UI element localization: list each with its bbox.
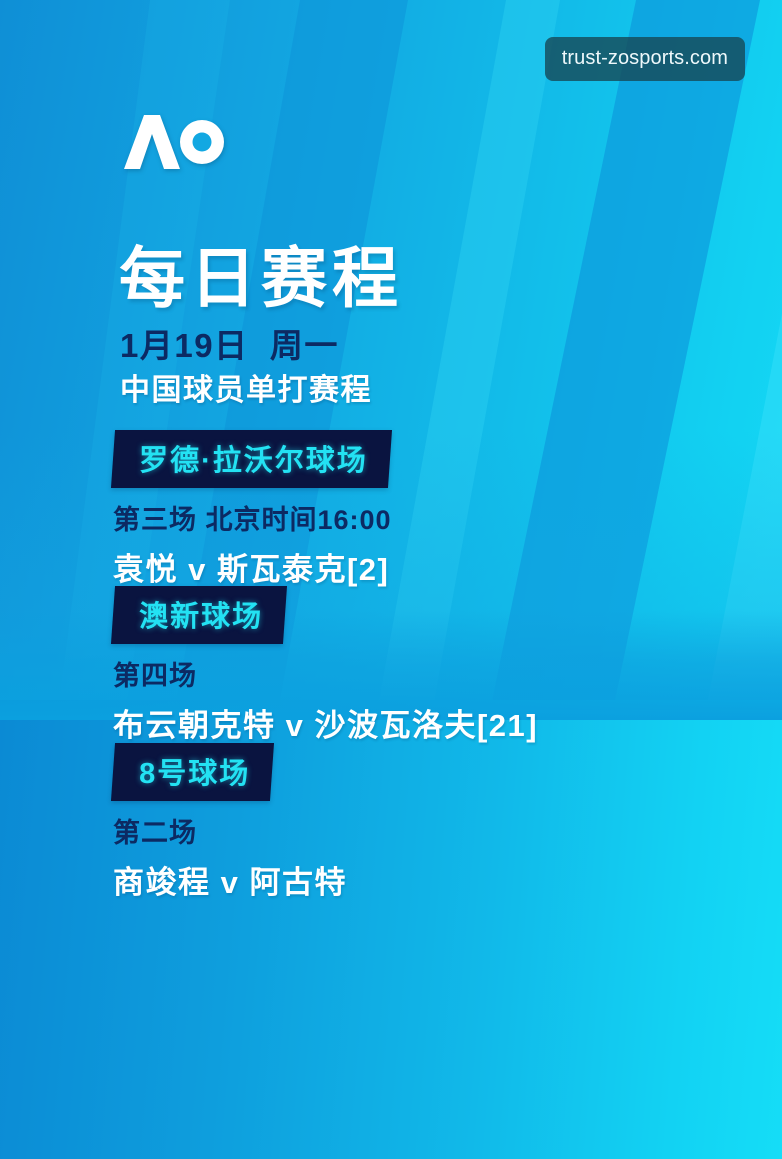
poster-canvas: trust-zosports.com 每日赛程 1月19日 周一 中国球员单打赛… — [0, 0, 782, 1159]
match-meta-1: 第三场 北京时间16:00 — [113, 498, 782, 537]
match-players-3: 商竣程 v 阿古特 — [113, 857, 782, 902]
match-players-2: 布云朝克特 v 沙波瓦洛夫[21] — [113, 700, 782, 745]
match-meta-2: 第四场 — [113, 654, 782, 693]
match-players-1: 袁悦 v 斯瓦泰克[2] — [113, 544, 782, 589]
venue-badge-3[interactable]: 8号球场 — [111, 743, 274, 801]
venue-badge-1[interactable]: 罗德·拉沃尔球场 — [111, 430, 392, 488]
venue-badge-label-1: 罗德·拉沃尔球场 — [139, 437, 368, 479]
venue-badge-label-2: 澳新球场 — [139, 593, 263, 635]
schedule-date: 1月19日 周一 — [120, 328, 339, 364]
venue-badge-label-3: 8号球场 — [139, 750, 250, 792]
schedule-subtitle: 中国球员单打赛程 — [120, 374, 372, 407]
venue-block-1: 罗德·拉沃尔球场 第三场 北京时间16:00 袁悦 v 斯瓦泰克[2] — [0, 430, 782, 589]
venue-block-2: 澳新球场 第四场 布云朝克特 v 沙波瓦洛夫[21] — [0, 586, 782, 745]
watermark-label: trust-zosports.com — [545, 37, 745, 81]
page-title: 每日赛程 — [119, 245, 403, 311]
match-meta-3: 第二场 — [113, 811, 782, 850]
venue-block-3: 8号球场 第二场 商竣程 v 阿古特 — [0, 743, 782, 902]
venue-badge-2[interactable]: 澳新球场 — [111, 586, 287, 644]
ao-logo-icon — [122, 112, 226, 170]
poster-content: 每日赛程 1月19日 周一 中国球员单打赛程 罗德·拉沃尔球场 第三场 北京时间… — [0, 0, 782, 1159]
